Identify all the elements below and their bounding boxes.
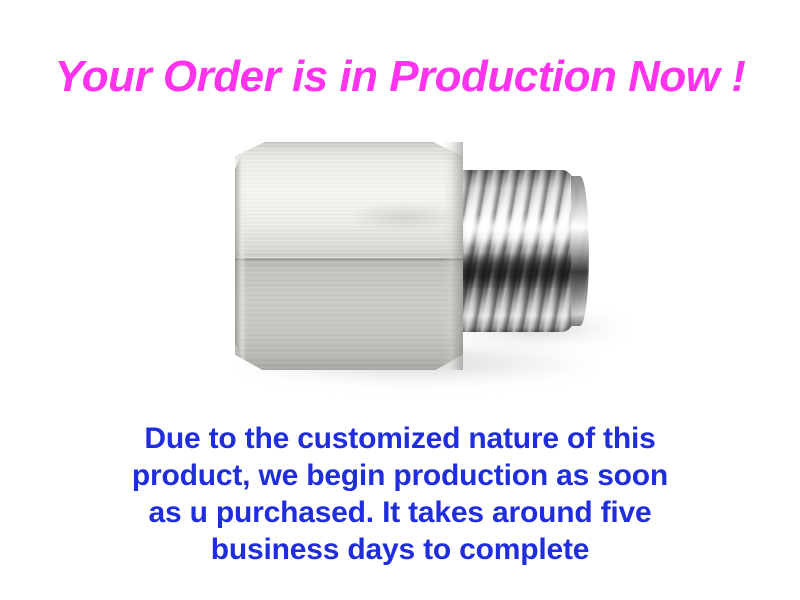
hex-lower-striations [235, 260, 463, 370]
notice-line-1: Due to the customized nature of this [0, 420, 800, 457]
thread-highlight [444, 214, 584, 246]
hex-right-shoulder [443, 142, 463, 370]
notice-line-4: business days to complete [0, 531, 800, 568]
production-notice: Due to the customized nature of this pro… [0, 420, 800, 568]
hex-etched-marking [355, 204, 455, 230]
hex-left-chamfer [235, 142, 247, 370]
notice-line-3: as u purchased. It takes around five [0, 494, 800, 531]
product-image [190, 115, 630, 405]
promo-banner: Your Order is in Production Now ! [0, 0, 800, 600]
hex-upper-striations [235, 142, 463, 260]
thread-end-cap [571, 176, 589, 326]
hex-body [235, 142, 463, 370]
notice-line-2: product, we begin production as soon [0, 457, 800, 494]
hex-facet-edge [235, 257, 463, 261]
page-title: Your Order is in Production Now ! [0, 50, 800, 104]
